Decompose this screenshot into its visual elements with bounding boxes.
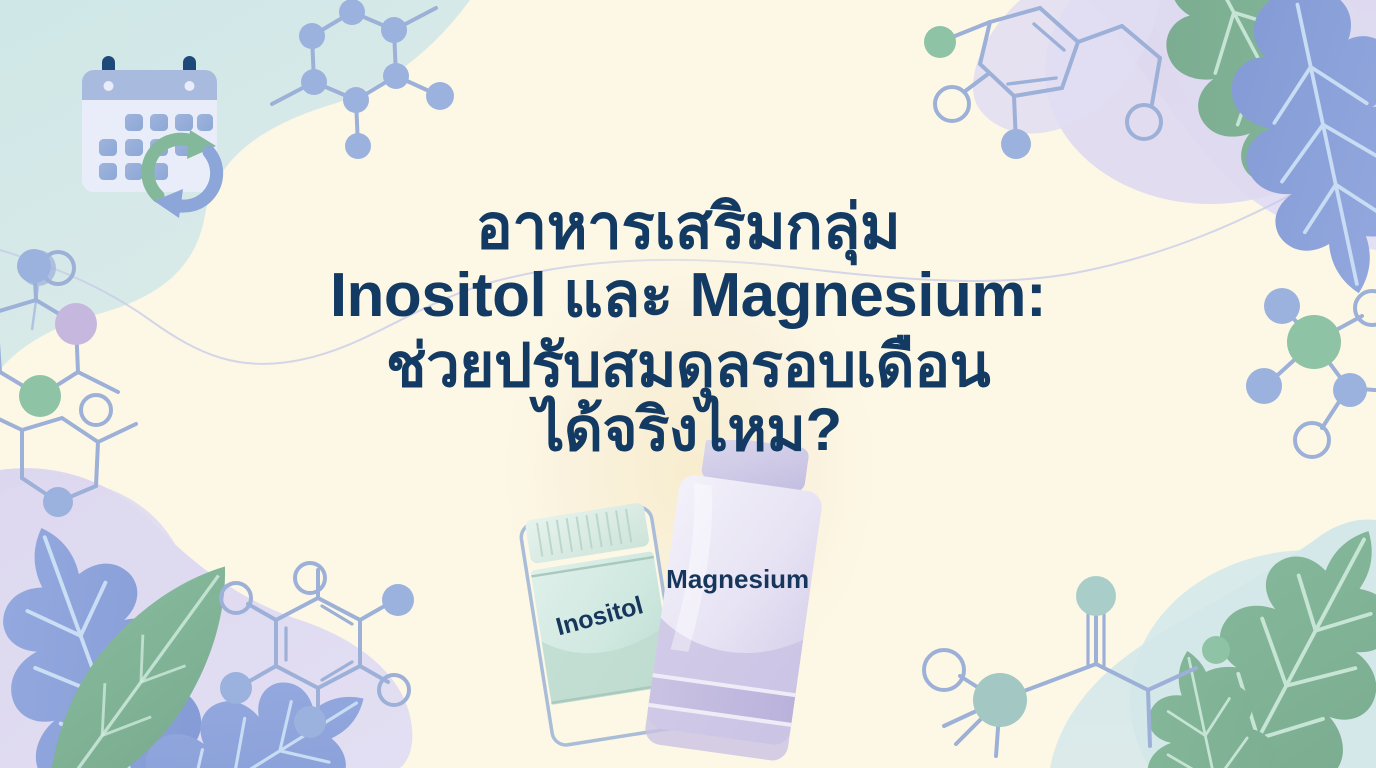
blob-bottom-right-teal-accent (1130, 550, 1376, 768)
leaf-bottom-left-blue (0, 499, 231, 768)
blob-top-mid-lavender (973, 0, 1160, 133)
blob-bottom-left-lavender-accent (0, 480, 190, 720)
leaf-bottom-right-green-2 (1124, 638, 1300, 768)
molecule-top-center (272, 0, 454, 159)
molecule-bottom-right (924, 576, 1230, 756)
blob-bottom-left-lavender (0, 468, 412, 768)
bottle-magnesium: Magnesium (641, 440, 829, 763)
blob-top-right-lavender-lobe (1150, 0, 1376, 216)
title-line-3: ช่วยปรับสมดุลรอบเดือน (0, 335, 1376, 397)
page-title: อาหารเสริมกลุ่ม Inositol และ Magnesium: … (0, 196, 1376, 462)
calendar-header (82, 70, 217, 100)
blob-top-right-lavender-accent (1045, 0, 1375, 204)
infographic-canvas: Inositol Magnesium อาหารเสริมกลุ่ม Inosi… (0, 0, 1376, 768)
leaf-bottom-left-green (1, 537, 265, 768)
molecule-bottom-center (220, 563, 414, 738)
magnesium-label-text: Magnesium (666, 564, 809, 594)
blob-bottom-right-teal (1050, 520, 1376, 768)
title-line-4: ได้จริงไหม? (0, 399, 1376, 461)
title-line-2: Inositol และ Magnesium: (0, 264, 1376, 328)
leaf-bottom-left-blue-2 (92, 636, 403, 768)
title-line-1: อาหารเสริมกลุ่ม (0, 196, 1376, 260)
supplement-bottles: Inositol Magnesium (510, 440, 890, 768)
leaf-bottom-right-green (1147, 492, 1376, 768)
molecule-top-right (924, 8, 1161, 159)
